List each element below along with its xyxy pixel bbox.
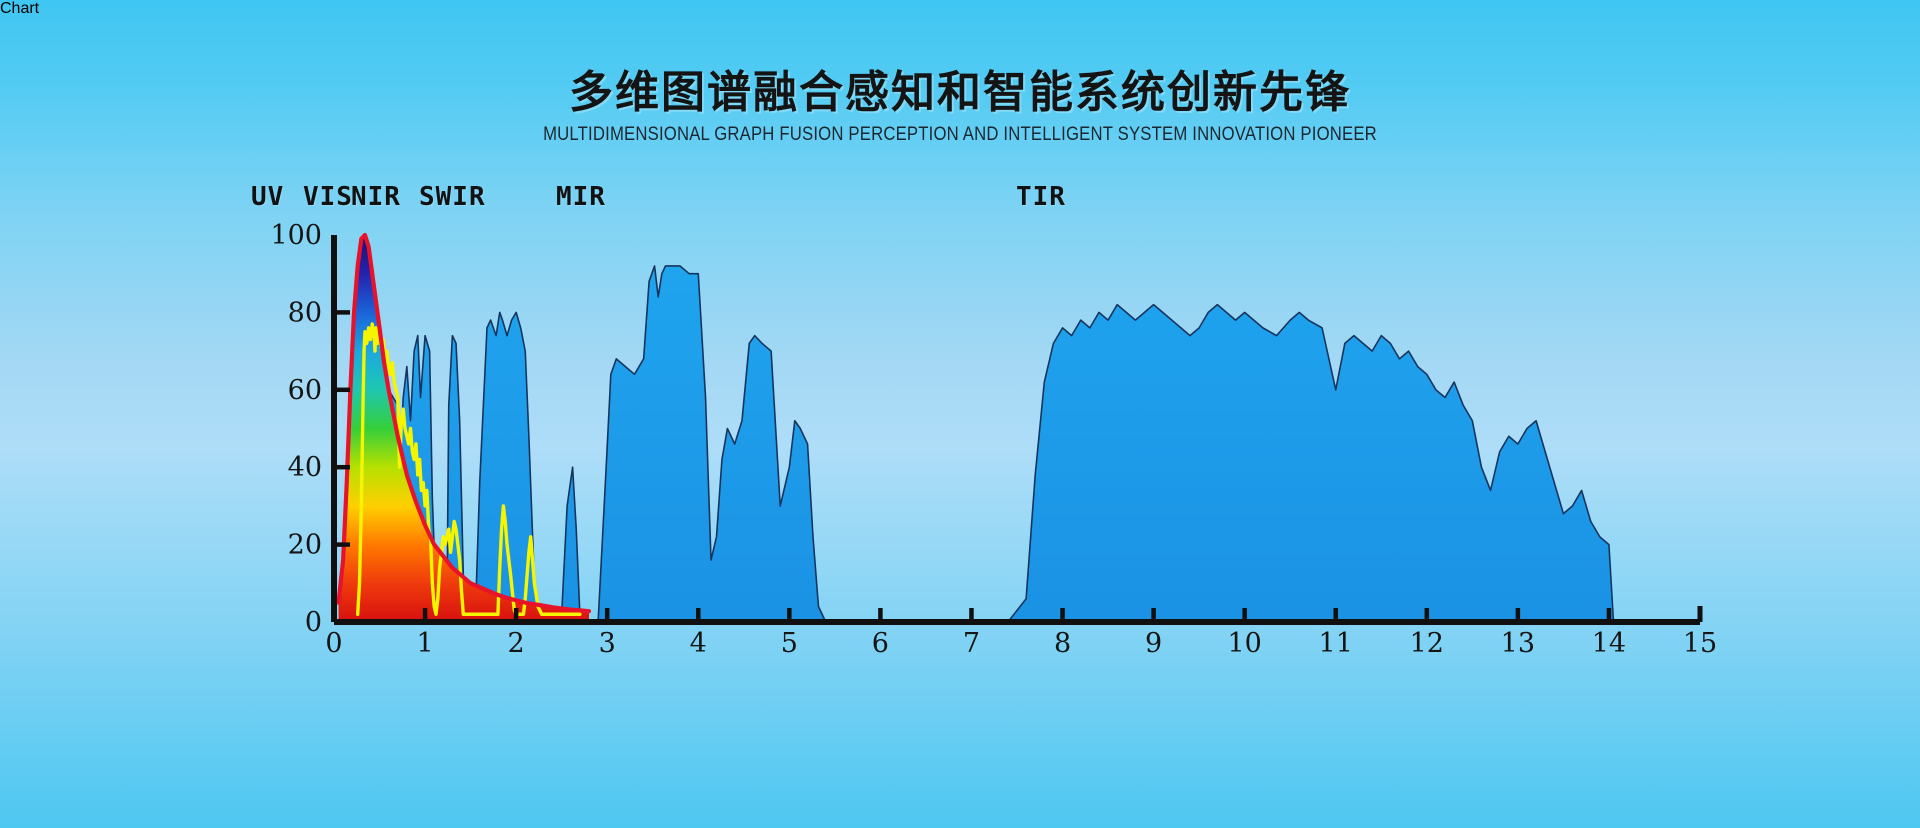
x-tick-label: 13 — [1501, 628, 1535, 659]
x-tick-label: 15 — [1683, 628, 1717, 659]
y-tick-label: 60 — [288, 375, 322, 406]
x-tick-label: 8 — [1054, 628, 1071, 659]
x-tick-label: 6 — [872, 628, 889, 659]
x-tick-label: 11 — [1319, 628, 1353, 659]
x-tick-label: 7 — [963, 628, 980, 659]
banner-stage: 多维图谱融合感知和智能系统创新先锋 MULTIDIMENSIONAL GRAPH… — [0, 0, 1920, 828]
x-tick-label: 12 — [1410, 628, 1444, 659]
x-tick-label: 0 — [325, 628, 342, 659]
y-tick-label: 0 — [305, 607, 322, 638]
x-tick-label: 14 — [1592, 628, 1626, 659]
x-tick-label: 4 — [690, 628, 707, 659]
y-tick-label: 20 — [288, 530, 322, 561]
y-tick-label: 40 — [288, 452, 322, 483]
spectral-transmission-chart: 0123456789101112131415 020406080100 — [0, 0, 1920, 828]
x-tick-label: 5 — [781, 628, 798, 659]
x-tick-label: 2 — [508, 628, 525, 659]
x-tick-label: 1 — [416, 628, 433, 659]
x-tick-label: 9 — [1145, 628, 1162, 659]
x-tick-label: 3 — [599, 628, 616, 659]
y-tick-label: 80 — [288, 297, 322, 328]
x-tick-label: 10 — [1227, 628, 1261, 659]
y-tick-label: 100 — [270, 220, 322, 251]
x-axis-tick-labels: 0123456789101112131415 — [325, 628, 1717, 659]
y-axis-tick-labels: 020406080100 — [270, 220, 322, 638]
